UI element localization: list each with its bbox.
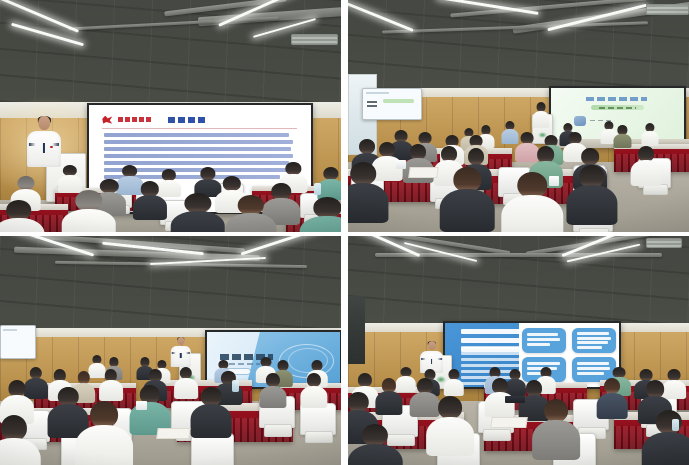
water-bottle [314, 183, 321, 195]
audience-member-foreground [225, 195, 276, 232]
water-bottle [672, 419, 679, 430]
logo-wordmark [118, 117, 152, 122]
air-vent [646, 238, 682, 248]
wall-monitor[interactable] [0, 325, 36, 359]
uniform-torso [27, 131, 61, 167]
ceiling [0, 0, 341, 102]
audience-member-foreground [61, 190, 116, 232]
china-customs-logo-icon [102, 116, 112, 124]
slide-title-text [586, 97, 647, 101]
audience-member [375, 378, 402, 415]
audience-member-foreground [566, 165, 617, 225]
audience-member [631, 146, 662, 185]
cup [549, 176, 559, 185]
audience-member-foreground [426, 396, 474, 456]
slide-banner-text [599, 107, 636, 109]
audience-member [259, 373, 286, 407]
audience-member [614, 125, 631, 148]
cup [136, 401, 146, 410]
audience-member-foreground [300, 197, 341, 232]
audience-member [133, 181, 167, 220]
audience-member-foreground [0, 200, 44, 232]
slide-header [102, 113, 297, 127]
audience-member-foreground [440, 167, 495, 232]
document [409, 167, 440, 178]
audience-member-foreground [348, 424, 403, 465]
photo-collage [0, 0, 689, 465]
cup [396, 160, 406, 169]
ceiling [348, 236, 689, 323]
audience-member-foreground [348, 162, 389, 222]
slide-card [572, 328, 616, 353]
audience-member-foreground [0, 415, 41, 465]
presenter-officer [171, 337, 191, 367]
water-bottle [232, 380, 239, 391]
document [156, 428, 190, 439]
slide-divider [102, 128, 297, 129]
slide-card [522, 328, 566, 353]
audience-member-foreground [532, 399, 580, 461]
audience-member [317, 167, 341, 199]
audience-member [443, 369, 463, 396]
audience-member [300, 373, 327, 407]
audience-member [641, 123, 658, 146]
presenter [532, 102, 549, 128]
photo-top-right[interactable] [348, 0, 689, 232]
ceiling-grid [348, 236, 689, 323]
slide-title-text [168, 117, 208, 123]
wall-monitor[interactable] [362, 88, 422, 120]
chair [300, 403, 336, 435]
ceiling [0, 236, 341, 328]
photo-top-left[interactable] [0, 0, 341, 232]
ceiling [348, 0, 689, 88]
air-vent [646, 4, 689, 15]
air-vent [291, 34, 337, 45]
chair [191, 433, 234, 465]
document [490, 417, 528, 428]
audience-member [597, 378, 628, 419]
audience-member [191, 387, 232, 437]
presenter-officer [27, 116, 61, 167]
laptop [505, 396, 525, 403]
photo-bottom-right[interactable] [348, 236, 689, 465]
head [39, 116, 51, 130]
necktie [43, 143, 45, 152]
audience-member-foreground [171, 193, 226, 232]
audience-member-foreground [75, 401, 133, 465]
uniform-badge [50, 146, 53, 148]
audience-member-foreground [641, 410, 689, 465]
audience-member [99, 369, 123, 401]
audience-member [58, 165, 82, 193]
projection-screen[interactable] [443, 321, 621, 389]
door [348, 296, 365, 365]
photo-bottom-left[interactable] [0, 236, 341, 465]
